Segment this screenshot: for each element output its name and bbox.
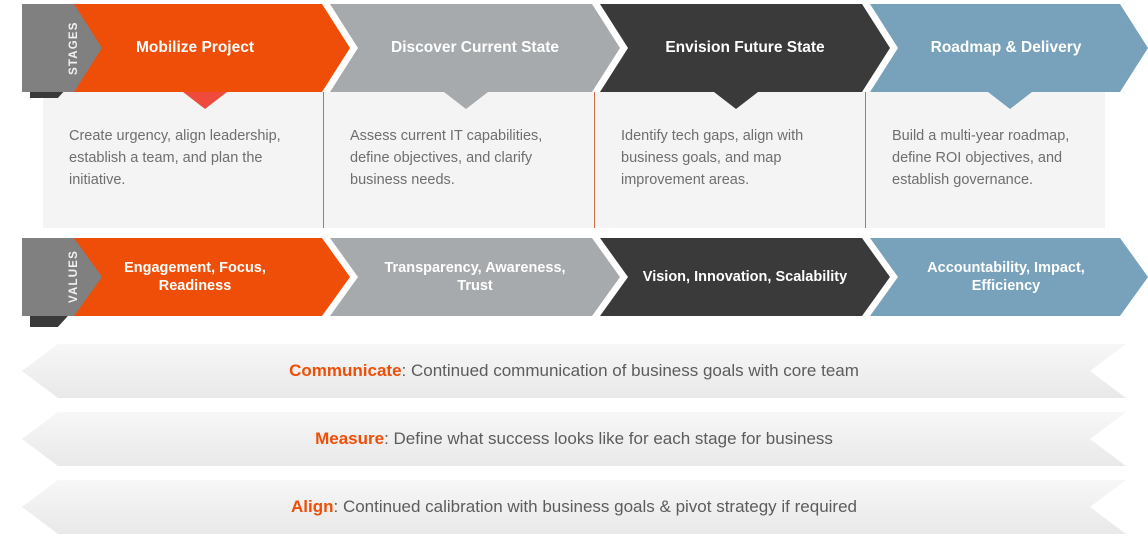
stage-description-text: Identify tech gaps, align with business …: [621, 128, 803, 188]
banner-separator: :: [384, 429, 393, 448]
stage-title: Mobilize Project: [136, 38, 274, 57]
stage-chevron-discover-current-state[interactable]: Discover Current State: [330, 4, 620, 92]
banner-separator: :: [402, 361, 411, 380]
values-chevron-discover-current-state[interactable]: Transparency, Awareness, Trust: [330, 238, 620, 316]
stage-chevron-envision-future-state[interactable]: Envision Future State: [600, 4, 890, 92]
banner-label: Measure: [315, 429, 384, 448]
banner-label: Communicate: [289, 361, 401, 380]
banner-text: Define what success looks like for each …: [394, 429, 833, 448]
values-chevron-roadmap-delivery[interactable]: Accountability, Impact, Efficiency: [870, 238, 1148, 316]
stage-description-1: Create urgency, align leadership, establ…: [43, 92, 323, 228]
banner-measure[interactable]: Measure: Define what success looks like …: [22, 412, 1126, 466]
values-chevron-mobilize-project[interactable]: Engagement, Focus, Readiness: [60, 238, 350, 316]
banner-communicate[interactable]: Communicate: Continued communication of …: [22, 344, 1126, 398]
values-text: Transparency, Awareness, Trust: [354, 259, 597, 295]
values-chevron-envision-future-state[interactable]: Vision, Innovation, Scalability: [600, 238, 890, 316]
banner-label: Align: [291, 497, 334, 516]
stage-title: Envision Future State: [651, 38, 838, 57]
banner-align[interactable]: Align: Continued calibration with busine…: [22, 480, 1126, 534]
banner-text: Continued calibration with business goal…: [343, 497, 857, 516]
stage-pointer-4: [988, 92, 1032, 109]
banner-separator: :: [333, 497, 342, 516]
stage-chevron-roadmap-delivery[interactable]: Roadmap & Delivery: [870, 4, 1148, 92]
banner-content: Measure: Define what success looks like …: [275, 429, 873, 449]
values-text: Engagement, Focus, Readiness: [90, 259, 320, 295]
banner-content: Communicate: Continued communication of …: [249, 361, 899, 381]
stage-description-text: Build a multi-year roadmap, define ROI o…: [892, 128, 1069, 188]
process-diagram: STAGES Mobilize Project Discover Current…: [0, 0, 1148, 550]
stage-title: Discover Current State: [377, 38, 573, 57]
stage-description-panel: Create urgency, align leadership, establ…: [43, 92, 1105, 228]
stage-description-4: Build a multi-year roadmap, define ROI o…: [866, 92, 1126, 228]
stage-description-text: Create urgency, align leadership, establ…: [69, 128, 281, 188]
stage-pointer-1: [183, 92, 227, 109]
stage-pointer-3: [714, 92, 758, 109]
values-text: Vision, Innovation, Scalability: [629, 268, 861, 286]
stage-pointer-2: [444, 92, 488, 109]
stage-title: Roadmap & Delivery: [917, 38, 1102, 57]
values-text: Accountability, Impact, Efficiency: [890, 259, 1129, 295]
banner-content: Align: Continued calibration with busine…: [251, 497, 897, 517]
stage-description-text: Assess current IT capabilities, define o…: [350, 128, 542, 188]
stage-description-2: Assess current IT capabilities, define o…: [324, 92, 594, 228]
banner-text: Continued communication of business goal…: [411, 361, 859, 380]
stage-chevron-mobilize-project[interactable]: Mobilize Project: [60, 4, 350, 92]
stage-description-3: Identify tech gaps, align with business …: [595, 92, 865, 228]
